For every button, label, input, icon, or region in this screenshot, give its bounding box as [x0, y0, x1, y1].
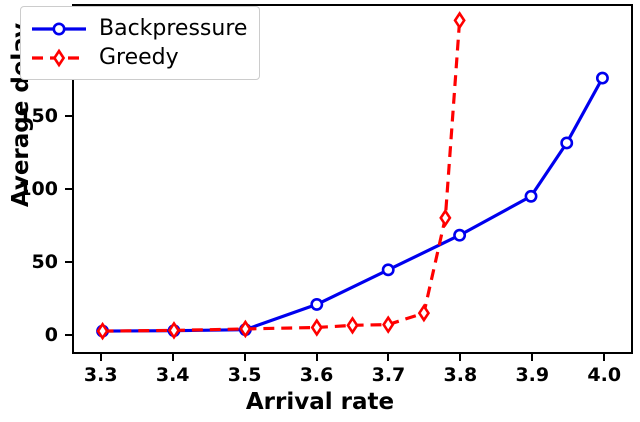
legend-swatch	[30, 47, 88, 69]
x-tick-mark	[531, 354, 533, 361]
legend-swatch	[30, 18, 88, 40]
marker-backpressure	[597, 73, 607, 83]
y-tick-mark	[65, 188, 72, 190]
x-tick-label: 3.5	[228, 364, 262, 386]
marker-greedy	[348, 318, 357, 332]
marker-greedy	[419, 306, 428, 320]
x-tick-mark	[172, 354, 174, 361]
x-tick-mark	[244, 354, 246, 361]
x-tick-label: 3.4	[156, 364, 190, 386]
diamond-marker-icon	[30, 47, 88, 69]
x-tick-mark	[100, 354, 102, 361]
marker-greedy	[384, 318, 393, 332]
legend-item[interactable]: Backpressure	[30, 14, 247, 43]
marker-backpressure	[312, 299, 322, 309]
legend-marker	[54, 23, 64, 33]
x-axis-label: Arrival rate	[0, 389, 640, 415]
marker-greedy	[455, 13, 464, 27]
x-tick-label: 3.9	[515, 364, 549, 386]
x-tick-label: 4.0	[587, 364, 621, 386]
marker-backpressure	[562, 138, 572, 148]
y-tick-mark	[65, 261, 72, 263]
marker-backpressure	[383, 265, 393, 275]
y-tick-mark	[65, 115, 72, 117]
x-tick-mark	[459, 354, 461, 361]
circle-marker-icon	[30, 18, 88, 40]
y-tick-mark	[65, 334, 72, 336]
x-tick-label: 3.7	[372, 364, 406, 386]
marker-greedy	[312, 321, 321, 335]
chart-legend: BackpressureGreedy	[20, 6, 260, 80]
legend-label: Greedy	[99, 47, 179, 69]
y-tick-label: 0	[0, 324, 58, 346]
marker-backpressure	[454, 230, 464, 240]
legend-item[interactable]: Greedy	[30, 43, 247, 72]
x-tick-label: 3.8	[444, 364, 478, 386]
x-tick-label: 3.6	[300, 364, 334, 386]
x-tick-mark	[603, 354, 605, 361]
marker-backpressure	[526, 191, 536, 201]
legend-marker	[54, 51, 63, 65]
x-tick-mark	[316, 354, 318, 361]
legend-label: Backpressure	[99, 18, 247, 40]
series-line-backpressure	[103, 78, 603, 331]
x-tick-mark	[387, 354, 389, 361]
marker-greedy	[441, 211, 450, 225]
chart-figure: 050100150200 Average delay 3.33.43.53.63…	[0, 0, 640, 422]
x-tick-label: 3.3	[84, 364, 118, 386]
